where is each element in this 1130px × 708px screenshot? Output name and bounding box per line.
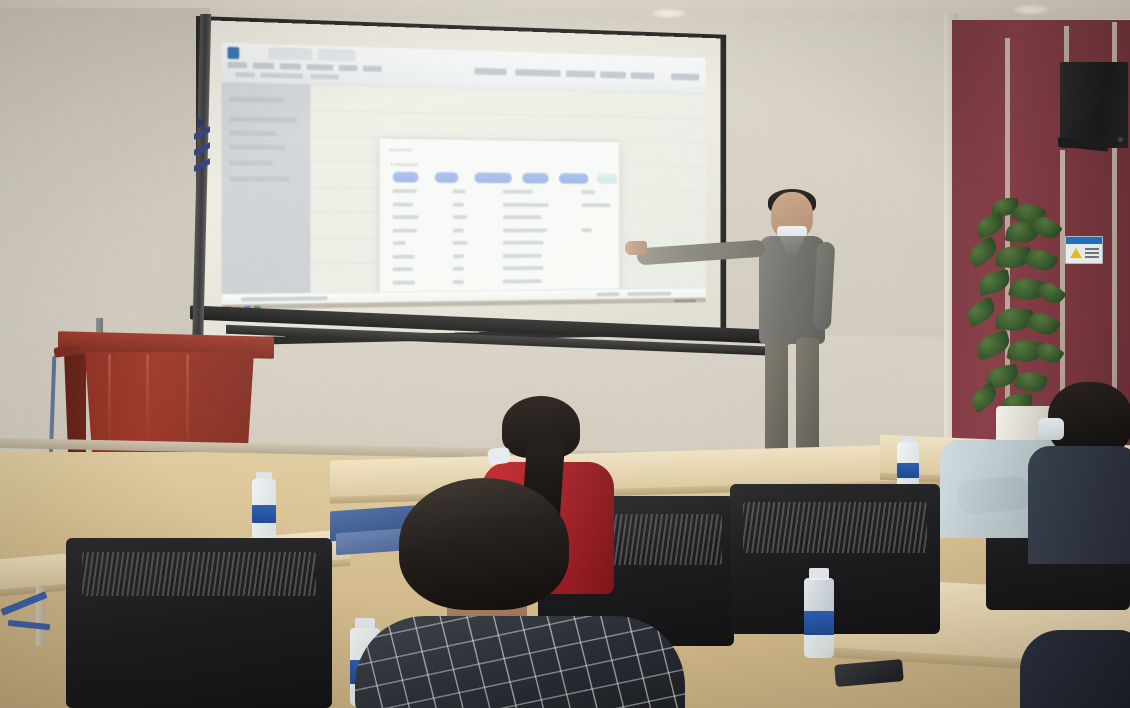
bookmark-2[interactable] <box>261 73 303 79</box>
nav-link-5[interactable] <box>671 73 699 80</box>
menu-view[interactable] <box>280 63 301 69</box>
downlight-1 <box>652 9 686 18</box>
nav-link-4[interactable] <box>631 72 655 79</box>
menu-tools[interactable] <box>339 65 358 71</box>
bottle-center <box>802 568 836 658</box>
sidebar-item-1[interactable] <box>229 97 283 103</box>
sidebar-item-4[interactable] <box>229 144 285 150</box>
projection-screen: ▭▭▭▭ ▪ ▭▭▭▭▭ <box>200 20 720 338</box>
menu-help[interactable] <box>363 66 382 72</box>
table-row[interactable] <box>387 189 614 203</box>
menu-edit[interactable] <box>253 62 274 69</box>
menu-file[interactable] <box>228 62 247 68</box>
table-row[interactable] <box>387 202 614 215</box>
dialog-title: ▭▭▭▭ <box>389 147 412 154</box>
table-row[interactable] <box>387 228 614 241</box>
projected-desktop: ▭▭▭▭ ▪ ▭▭▭▭▭ <box>222 43 706 310</box>
menu-favorites[interactable] <box>307 64 334 71</box>
presenter-right-arm <box>813 242 836 331</box>
sidebar-item-3[interactable] <box>229 130 276 136</box>
attendee-man-foreground <box>355 478 685 708</box>
web-application: ▭▭▭▭ ▪ ▭▭▭▭▭ <box>222 83 706 294</box>
dialog-filter-buttons <box>389 172 612 187</box>
man-foreground-hair <box>399 478 569 610</box>
attendee-right-foreground <box>1020 630 1130 708</box>
status-right-2 <box>627 292 671 296</box>
dialog-subtitle: ▪ ▭▭▭▭▭ <box>391 162 418 168</box>
nav-link-1[interactable] <box>515 69 560 77</box>
table-row[interactable] <box>387 215 614 228</box>
presenter-legs <box>765 338 819 454</box>
status-text <box>241 296 327 301</box>
app-sidebar[interactable] <box>222 83 311 294</box>
filter-button-5[interactable] <box>559 173 588 184</box>
sidebar-item-2[interactable] <box>229 117 297 123</box>
sidebar-item-6[interactable] <box>229 176 289 181</box>
filter-button-3[interactable] <box>474 172 511 183</box>
downlight-3 <box>1014 5 1048 14</box>
meeting-room-photo: ▭▭▭▭ ▪ ▭▭▭▭▭ <box>0 0 1130 708</box>
nav-link-3[interactable] <box>600 71 625 78</box>
attendee-man-right <box>1028 382 1130 562</box>
nav-link-2[interactable] <box>566 70 595 77</box>
modal-dialog[interactable]: ▭▭▭▭ ▪ ▭▭▭▭▭ <box>380 139 619 310</box>
pole-arrow-marker-icon <box>198 118 205 128</box>
speaker-indicator <box>1118 137 1123 142</box>
filter-button-6[interactable] <box>597 174 617 184</box>
filter-button-1[interactable] <box>393 172 419 183</box>
potted-plant-foliage <box>962 198 1080 413</box>
woman-face-mask <box>487 447 511 466</box>
address-bar[interactable] <box>474 68 506 76</box>
filter-button-2[interactable] <box>435 172 458 183</box>
browser-logo-icon <box>228 47 240 59</box>
filter-button-4[interactable] <box>522 173 548 184</box>
sidebar-item-5[interactable] <box>229 160 272 165</box>
sign-text-lines <box>1085 248 1099 260</box>
man-foreground-checked-shirt <box>355 616 685 708</box>
bottle-podium <box>250 472 278 540</box>
presenter-pointing-hand <box>625 241 647 255</box>
presenter <box>735 192 845 480</box>
ceiling-speaker <box>1060 62 1128 148</box>
browser-tab-2[interactable] <box>318 49 356 62</box>
taskbar-clock <box>674 299 695 306</box>
chair-left-armrest[interactable] <box>76 680 136 708</box>
status-right-1 <box>597 292 619 296</box>
bookmark-1[interactable] <box>235 72 254 77</box>
browser-tab-1[interactable] <box>268 47 312 60</box>
bookmark-3[interactable] <box>310 74 338 80</box>
